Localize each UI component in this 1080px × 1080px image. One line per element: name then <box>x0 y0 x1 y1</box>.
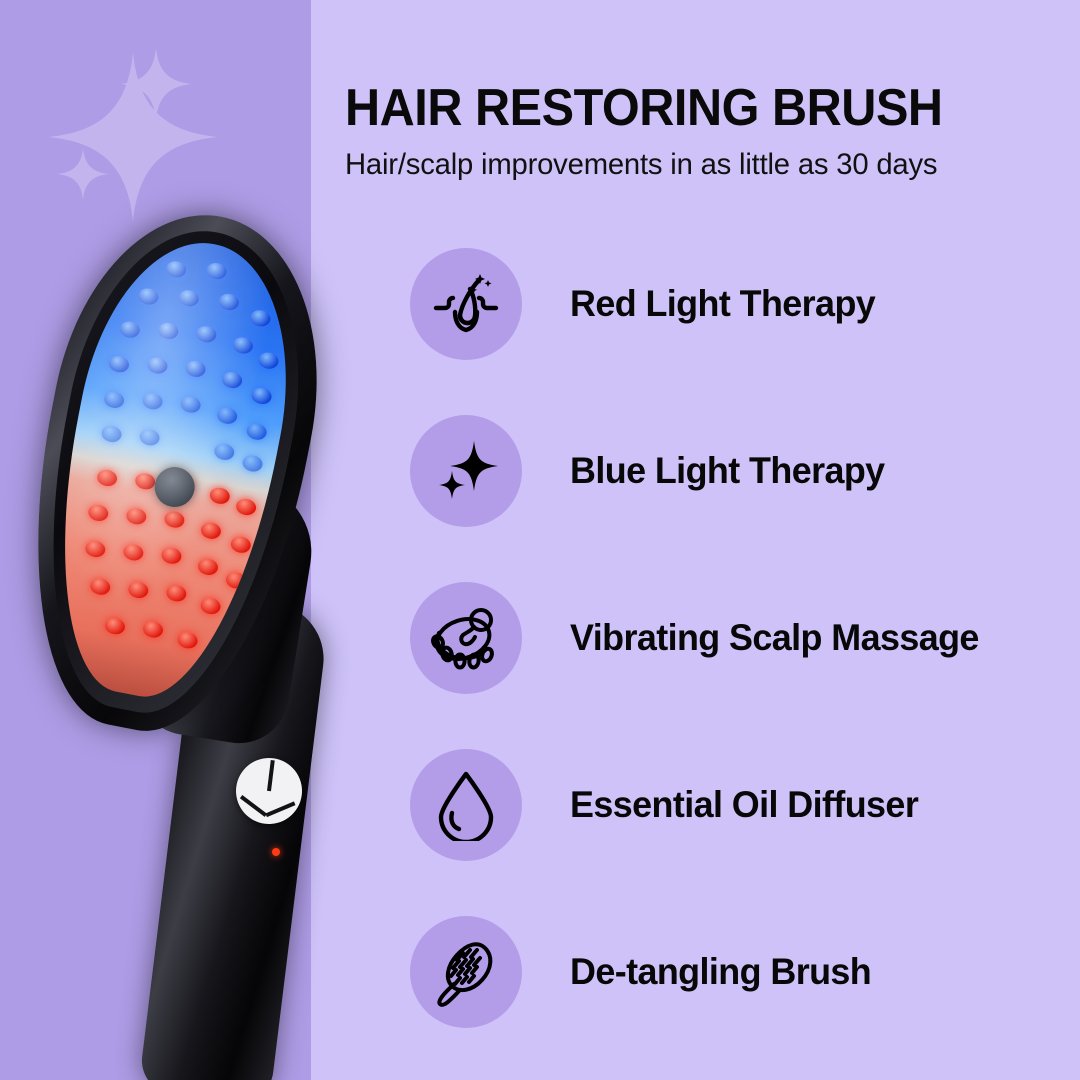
feature-list: Red Light Therapy Blue Light Therapy <box>410 248 1050 1080</box>
feature-badge <box>410 916 522 1028</box>
feature-badge <box>410 248 522 360</box>
water-droplet-icon <box>432 769 500 841</box>
brush-center-hole <box>151 464 198 511</box>
hair-follicle-sparkle-icon <box>430 268 502 340</box>
list-item[interactable]: Blue Light Therapy <box>410 415 1050 527</box>
list-item[interactable]: Red Light Therapy <box>410 248 1050 360</box>
feature-label: Red Light Therapy <box>570 283 875 325</box>
scalp-massager-icon <box>429 601 503 675</box>
feature-badge <box>410 415 522 527</box>
hair-brush-icon <box>429 935 503 1009</box>
list-item[interactable]: De-tangling Brush <box>410 916 1050 1028</box>
list-item[interactable]: Essential Oil Diffuser <box>410 749 1050 861</box>
infographic-canvas: HAIR RESTORING BRUSH Hair/scalp improvem… <box>0 0 1080 1080</box>
heading-block: HAIR RESTORING BRUSH Hair/scalp improvem… <box>345 82 1035 182</box>
feature-label: Blue Light Therapy <box>570 450 885 492</box>
feature-label: Vibrating Scalp Massage <box>570 617 979 659</box>
feature-label: De-tangling Brush <box>570 951 871 993</box>
page-subtitle: Hair/scalp improvements in as little as … <box>345 148 1018 182</box>
feature-badge <box>410 582 522 694</box>
feature-badge <box>410 749 522 861</box>
sparkle-star-icon <box>430 435 502 507</box>
list-item[interactable]: Vibrating Scalp Massage <box>410 582 1050 694</box>
product-image <box>0 0 380 1080</box>
page-title: HAIR RESTORING BRUSH <box>345 82 990 135</box>
power-indicator-light <box>272 848 280 856</box>
feature-label: Essential Oil Diffuser <box>570 784 918 826</box>
